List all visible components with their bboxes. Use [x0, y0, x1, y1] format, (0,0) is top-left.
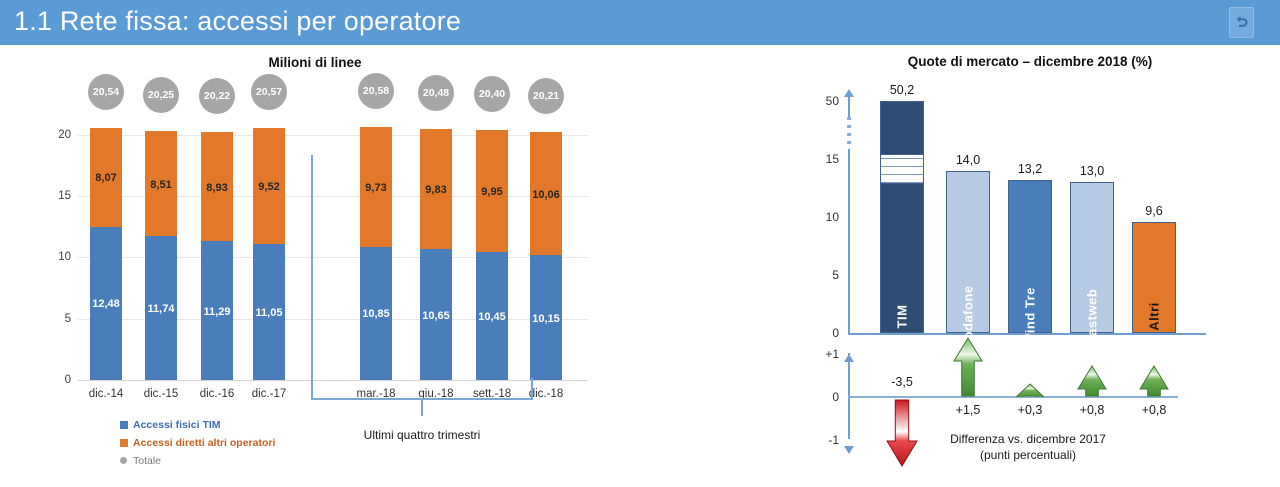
stacked-bar-column[interactable]: 12,488,0720,54dic.-14: [90, 110, 122, 380]
down-arrow-red-icon: [886, 399, 918, 467]
delta-down-arrow: [886, 399, 918, 467]
legend-swatch-blue-icon: [120, 421, 128, 429]
stacked-bar-column[interactable]: 11,298,9320,22dic.-16: [201, 110, 233, 380]
market-share-value-label: 13,0: [1080, 164, 1104, 178]
chart-milioni-di-linee: Milioni di linee 0510152012,488,0720,54d…: [0, 45, 640, 487]
legend-label-altri-operatori: Accessi diretti altri operatori: [133, 437, 275, 449]
market-share-bar-name: Wind Tre: [1023, 287, 1038, 346]
up-arrow-green-icon: [1139, 365, 1169, 397]
left-chart-x-label: dic.-15: [144, 388, 179, 400]
bar-value-label-tim: 11,05: [253, 307, 285, 319]
delta-caption: Differenza vs. dicembre 2017 (punti perc…: [888, 431, 1168, 463]
bar-total-bubble: 20,25: [143, 77, 179, 113]
delta-panel: Differenza vs. dicembre 2017 (punti perc…: [848, 345, 1238, 485]
legend-label-totale: Totale: [133, 455, 161, 467]
delta-axis-up-arrowhead-icon: [844, 354, 854, 362]
stacked-bar-column[interactable]: 10,859,7320,58mar.-18: [360, 110, 392, 380]
bar-value-label-tim: 10,45: [476, 311, 508, 323]
bar-total-bubble: 20,48: [418, 75, 454, 111]
up-arrow-green-icon: [1013, 383, 1047, 397]
stacked-bar-column[interactable]: 10,659,8320,48giu.-18: [420, 110, 452, 380]
page-title: 1.1 Rete fissa: accessi per operatore: [14, 6, 461, 37]
bar-value-label-altri-operatori: 8,07: [90, 172, 122, 184]
left-chart-y-tick: 20: [58, 129, 71, 141]
stacked-bar-column[interactable]: 10,459,9520,40sett.-18: [476, 110, 508, 380]
legend-swatch-grey-icon: [120, 457, 127, 464]
y-axis-arrowhead-icon: [844, 89, 854, 97]
bar-value-label-tim: 10,15: [530, 313, 562, 325]
bar-total-bubble: 20,40: [474, 76, 510, 112]
bar-value-label-tim: 11,29: [201, 306, 233, 318]
bar-total-bubble: 20,57: [251, 74, 287, 110]
right-chart-y-tick: 15: [826, 152, 839, 166]
right-chart-y-tick: 0: [832, 326, 839, 340]
slide-title-bar: 1.1 Rete fissa: accessi per operatore: [0, 0, 1280, 45]
left-chart-legend: Accessi fisici TIM Accessi diretti altri…: [120, 417, 275, 471]
bar-value-label-altri-operatori: 9,73: [360, 182, 392, 194]
bar-value-label-altri-operatori: 9,83: [420, 184, 452, 196]
right-chart-y-tick: 5: [832, 268, 839, 282]
market-share-bar[interactable]: Fastweb: [1070, 182, 1114, 333]
left-chart-x-label: dic.-14: [89, 388, 124, 400]
bar-value-label-altri-operatori: 10,06: [530, 189, 562, 201]
legend-item-altri-operatori: Accessi diretti altri operatori: [120, 435, 275, 450]
market-share-bar-name: Altri: [1147, 302, 1162, 331]
delta-y-tick: +1: [825, 347, 839, 361]
delta-y-tick: -1: [828, 433, 839, 447]
left-chart-x-label: dic.-16: [200, 388, 235, 400]
quarters-bracket: [311, 378, 533, 418]
left-chart-y-tick: 0: [65, 374, 71, 386]
bar-value-label-altri-operatori: 9,95: [476, 186, 508, 198]
bar-value-label-altri-operatori: 8,51: [145, 179, 177, 191]
bar-value-label-tim: 10,85: [360, 308, 392, 320]
right-chart-plot-area: 05101550TIM50,2Vodafone14,0Wind Tre13,2F…: [848, 90, 1208, 335]
left-chart-x-label: dic.-18: [529, 388, 564, 400]
bar-total-bubble: 20,58: [358, 73, 394, 109]
right-chart-y-tick: 10: [826, 210, 839, 224]
delta-up-arrow: [1013, 383, 1047, 397]
bar-axis-break-patch-icon: [881, 154, 923, 184]
y-axis-break-marker-icon: [847, 117, 851, 149]
right-chart-title: Quote di mercato – dicembre 2018 (%): [820, 54, 1240, 69]
up-arrow-green-icon: [953, 337, 983, 397]
slide-canvas: 1.1 Rete fissa: accessi per operatore Mi…: [0, 0, 1280, 487]
left-chart-x-label: dic.-17: [252, 388, 287, 400]
chart-quote-di-mercato: Quote di mercato – dicembre 2018 (%) 051…: [790, 45, 1280, 487]
market-share-value-label: 50,2: [890, 83, 914, 97]
delta-up-arrow: [1139, 365, 1169, 397]
market-share-bar[interactable]: Wind Tre: [1008, 180, 1052, 333]
bar-value-label-tim: 11,74: [145, 303, 177, 315]
stacked-bar-column[interactable]: 10,1510,0620,21dic.-18: [530, 110, 562, 380]
quarters-bracket-label: Ultimi quattro trimestri: [364, 428, 481, 442]
legend-label-tim: Accessi fisici TIM: [133, 419, 221, 431]
delta-value-label: -3,5: [891, 375, 913, 389]
left-chart-y-tick: 5: [65, 313, 71, 325]
market-share-bar[interactable]: Vodafone: [946, 171, 990, 333]
market-share-bar-name: TIM: [895, 305, 910, 329]
undo-button[interactable]: [1229, 7, 1254, 38]
delta-value-label: +0,3: [1018, 403, 1043, 417]
legend-item-tim: Accessi fisici TIM: [120, 417, 275, 432]
market-share-value-label: 13,2: [1018, 162, 1042, 176]
delta-value-label: +0,8: [1080, 403, 1105, 417]
left-chart-plot-area: 0510152012,488,0720,54dic.-1411,748,5120…: [78, 110, 588, 380]
left-chart-y-tick: 15: [58, 190, 71, 202]
delta-up-arrow: [953, 337, 983, 397]
legend-item-totale: Totale: [120, 453, 275, 468]
delta-axis-down-arrowhead-icon: [844, 446, 854, 454]
bar-value-label-tim: 12,48: [90, 298, 122, 310]
legend-swatch-orange-icon: [120, 439, 128, 447]
up-arrow-green-icon: [1077, 365, 1107, 397]
left-chart-title: Milioni di linee: [0, 55, 630, 70]
delta-up-arrow: [1077, 365, 1107, 397]
bar-total-bubble: 20,21: [528, 78, 564, 114]
stacked-bar-column[interactable]: 11,748,5120,25dic.-15: [145, 110, 177, 380]
bar-value-label-altri-operatori: 8,93: [201, 182, 233, 194]
undo-arrow-icon: [1234, 14, 1249, 31]
market-share-bar[interactable]: Altri: [1132, 222, 1176, 333]
market-share-value-label: 14,0: [956, 153, 980, 167]
delta-caption-line2: (punti percentuali): [888, 447, 1168, 463]
left-chart-y-tick: 10: [58, 251, 71, 263]
bar-value-label-tim: 10,65: [420, 310, 452, 322]
delta-value-label: +0,8: [1142, 403, 1167, 417]
delta-caption-line1: Differenza vs. dicembre 2017: [888, 431, 1168, 447]
market-share-bar[interactable]: TIM: [880, 101, 924, 333]
delta-y-tick: 0: [832, 390, 839, 404]
stacked-bar-column[interactable]: 11,059,5220,57dic.-17: [253, 110, 285, 380]
group-divider: [311, 155, 313, 380]
bar-total-bubble: 20,22: [199, 78, 235, 114]
bar-value-label-altri-operatori: 9,52: [253, 181, 285, 193]
market-share-value-label: 9,6: [1145, 204, 1162, 218]
bar-total-bubble: 20,54: [88, 74, 124, 110]
market-share-bar-name: Fastweb: [1085, 289, 1100, 345]
right-chart-y-tick: 50: [826, 94, 839, 108]
delta-value-label: +1,5: [956, 403, 981, 417]
